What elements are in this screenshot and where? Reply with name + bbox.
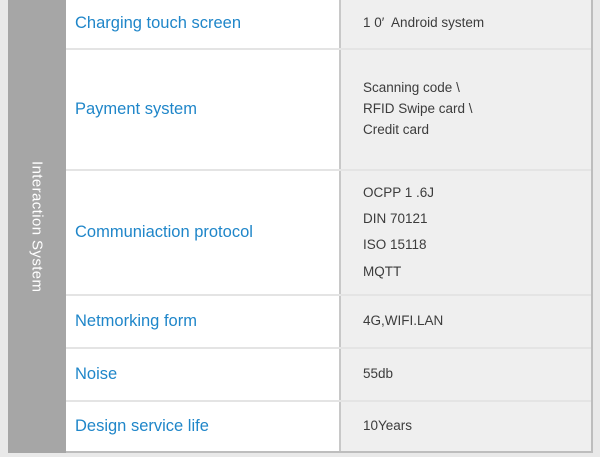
spec-value-payment-system: Scanning code \ RFID Swipe card \ Credit… xyxy=(341,50,591,169)
spec-label-design-service-life: Design service life xyxy=(66,402,341,451)
table-row: Payment system Scanning code \ RFID Swip… xyxy=(66,50,591,171)
spec-label-noise: Noise xyxy=(66,349,341,400)
table-row: Design service life 10Years xyxy=(66,402,591,451)
value-line: 10Years xyxy=(363,416,591,437)
value-line: 55db xyxy=(363,364,591,385)
value-line: RFID Swipe card \ xyxy=(363,99,591,120)
specification-table: Charging touch screen 1 0′ Android syste… xyxy=(66,0,593,453)
value-line: 4G,WIFI.LAN xyxy=(363,311,591,332)
value-line: ISO 15118 xyxy=(363,232,591,258)
table-row: Charging touch screen 1 0′ Android syste… xyxy=(66,0,591,50)
value-line: Credit card xyxy=(363,120,591,141)
value-line: DIN 70121 xyxy=(363,206,591,232)
spec-value-communication-protocol: OCPP 1 .6J DIN 70121 ISO 15118 MQTT xyxy=(341,171,591,293)
table-row: Noise 55db xyxy=(66,349,591,402)
spec-label-payment-system: Payment system xyxy=(66,50,341,169)
spec-value-charging-touch-screen: 1 0′ Android system xyxy=(341,0,591,48)
value-line: MQTT xyxy=(363,259,591,285)
table-row: Netmorking form 4G,WIFI.LAN xyxy=(66,296,591,350)
value-line: OCPP 1 .6J xyxy=(363,180,591,206)
group-category-label: Interaction System xyxy=(29,161,46,292)
spec-label-networking-form: Netmorking form xyxy=(66,296,341,348)
spec-value-noise: 55db xyxy=(341,349,591,400)
spec-label-communication-protocol: Communiaction protocol xyxy=(66,171,341,293)
value-line: Scanning code \ xyxy=(363,78,591,99)
table-row: Communiaction protocol OCPP 1 .6J DIN 70… xyxy=(66,171,591,295)
value-line: 1 0′ Android system xyxy=(363,13,591,34)
group-category-bar: Interaction System xyxy=(8,0,66,453)
spec-value-networking-form: 4G,WIFI.LAN xyxy=(341,296,591,348)
spec-value-design-service-life: 10Years xyxy=(341,402,591,451)
spec-label-charging-touch-screen: Charging touch screen xyxy=(66,0,341,48)
spec-sheet: Interaction System Charging touch screen… xyxy=(0,0,600,457)
